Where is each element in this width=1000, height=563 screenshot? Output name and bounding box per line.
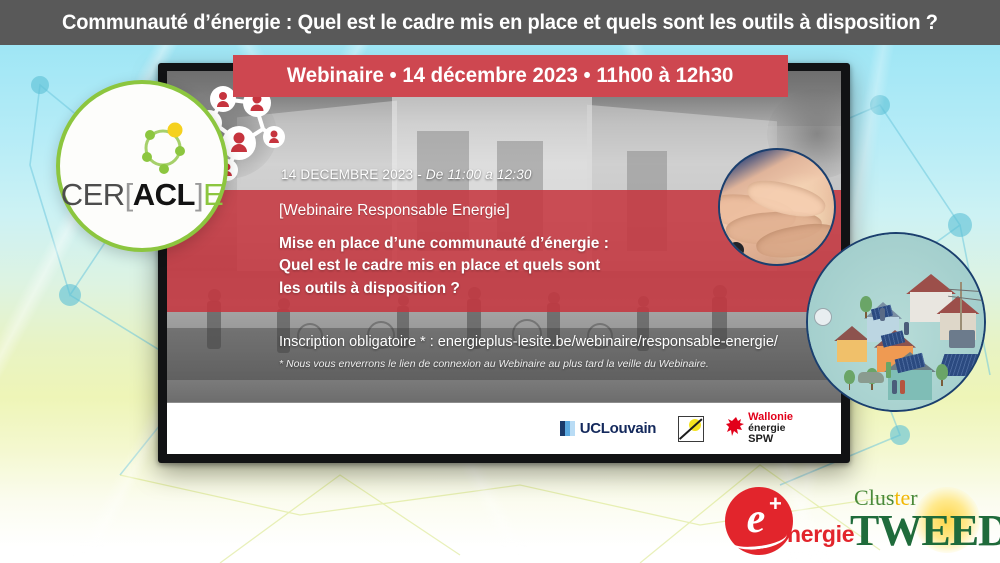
- network-ring-icon: [135, 119, 191, 175]
- electric-car: [858, 372, 884, 383]
- slide-title-line1: Mise en place d’une communauté d’énergie…: [279, 233, 779, 255]
- uclouvain-logo: UCLouvain: [560, 420, 656, 437]
- wallonie-energie-spw-logo: Wallonie énergie SPW: [726, 412, 793, 445]
- ceracle-wordmark: CER[ACL]E: [61, 177, 224, 213]
- wristwatch-shape: [728, 242, 744, 258]
- slide-date-text: 14 DECEMBRE 2023 -: [281, 167, 426, 182]
- slide-date: 14 DECEMBRE 2023 - De 11:00 a 12:30: [281, 167, 532, 182]
- tree: [844, 370, 855, 390]
- ceracle-logo: CER[ACL]E: [56, 80, 228, 252]
- slide-title-line2: Quel est le cadre mis en place et quels …: [279, 255, 779, 277]
- slide-title-line3: les outils à disposition ?: [279, 278, 779, 300]
- slide-footer-logos: UCLouvain Wallonie énergie SPW: [167, 403, 841, 454]
- wallonie-text: Wallonie énergie SPW: [748, 412, 793, 445]
- poster-canvas: Communauté d’énergie : Quel est le cadre…: [0, 0, 1000, 563]
- uclouvain-squares-icon: [560, 421, 575, 436]
- person: [904, 322, 909, 335]
- energie-wordmark: nergie: [787, 521, 854, 548]
- meter-icon: [814, 308, 832, 326]
- battery-unit: [949, 330, 975, 348]
- ceracle-bracket-close: ]: [195, 177, 203, 212]
- person: [892, 380, 897, 394]
- inscription-note: * Nous vous enverrons le lien de connexi…: [279, 358, 709, 370]
- ceracle-part2: ACL: [133, 177, 195, 212]
- presentation-screen: 14 DECEMBRE 2023 - De 11:00 a 12:30: [158, 63, 850, 463]
- isometric-village-illustration: [806, 232, 986, 412]
- person: [880, 308, 885, 321]
- tweed-wordmark: TWEED: [850, 505, 1000, 556]
- slide-content: 14 DECEMBRE 2023 - De 11:00 a 12:30: [167, 71, 841, 454]
- energie-plus-sign: +: [769, 493, 782, 515]
- webinar-banner: Webinaire • 14 décembre 2023 • 11h00 à 1…: [233, 55, 788, 97]
- sun-diagonal-icon: [678, 416, 704, 442]
- charging-station: [886, 362, 891, 378]
- webinar-banner-text: Webinaire • 14 décembre 2023 • 11h00 à 1…: [287, 64, 733, 88]
- wallonie-line3: SPW: [748, 434, 793, 445]
- ceracle-part3: E: [203, 177, 223, 212]
- ceracle-bracket-open: [: [125, 177, 133, 212]
- inscription-text: Inscription obligatoire * : energieplus-…: [279, 334, 778, 350]
- uclouvain-label: UCLouvain: [580, 420, 656, 437]
- ceracle-part1: CER: [61, 177, 125, 212]
- roof: [906, 274, 956, 294]
- page-title: Communauté d’énergie : Quel est le cadre…: [62, 10, 938, 35]
- tree: [860, 296, 872, 318]
- house-body: [837, 340, 867, 362]
- cluster-tweed-logo: Cluster TWEED: [848, 483, 998, 555]
- energie-plus-logo: e + nergie: [725, 487, 855, 555]
- tree: [936, 364, 948, 386]
- slide-title: Mise en place d’une communauté d’énergie…: [279, 233, 779, 300]
- rooster-icon: [726, 416, 745, 440]
- page-header: Communauté d’énergie : Quel est le cadre…: [0, 0, 1000, 45]
- person: [900, 380, 905, 394]
- slide-subtitle: [Webinaire Responsable Energie]: [279, 202, 510, 220]
- slide-time-text: De 11:00 a 12:30: [426, 167, 532, 182]
